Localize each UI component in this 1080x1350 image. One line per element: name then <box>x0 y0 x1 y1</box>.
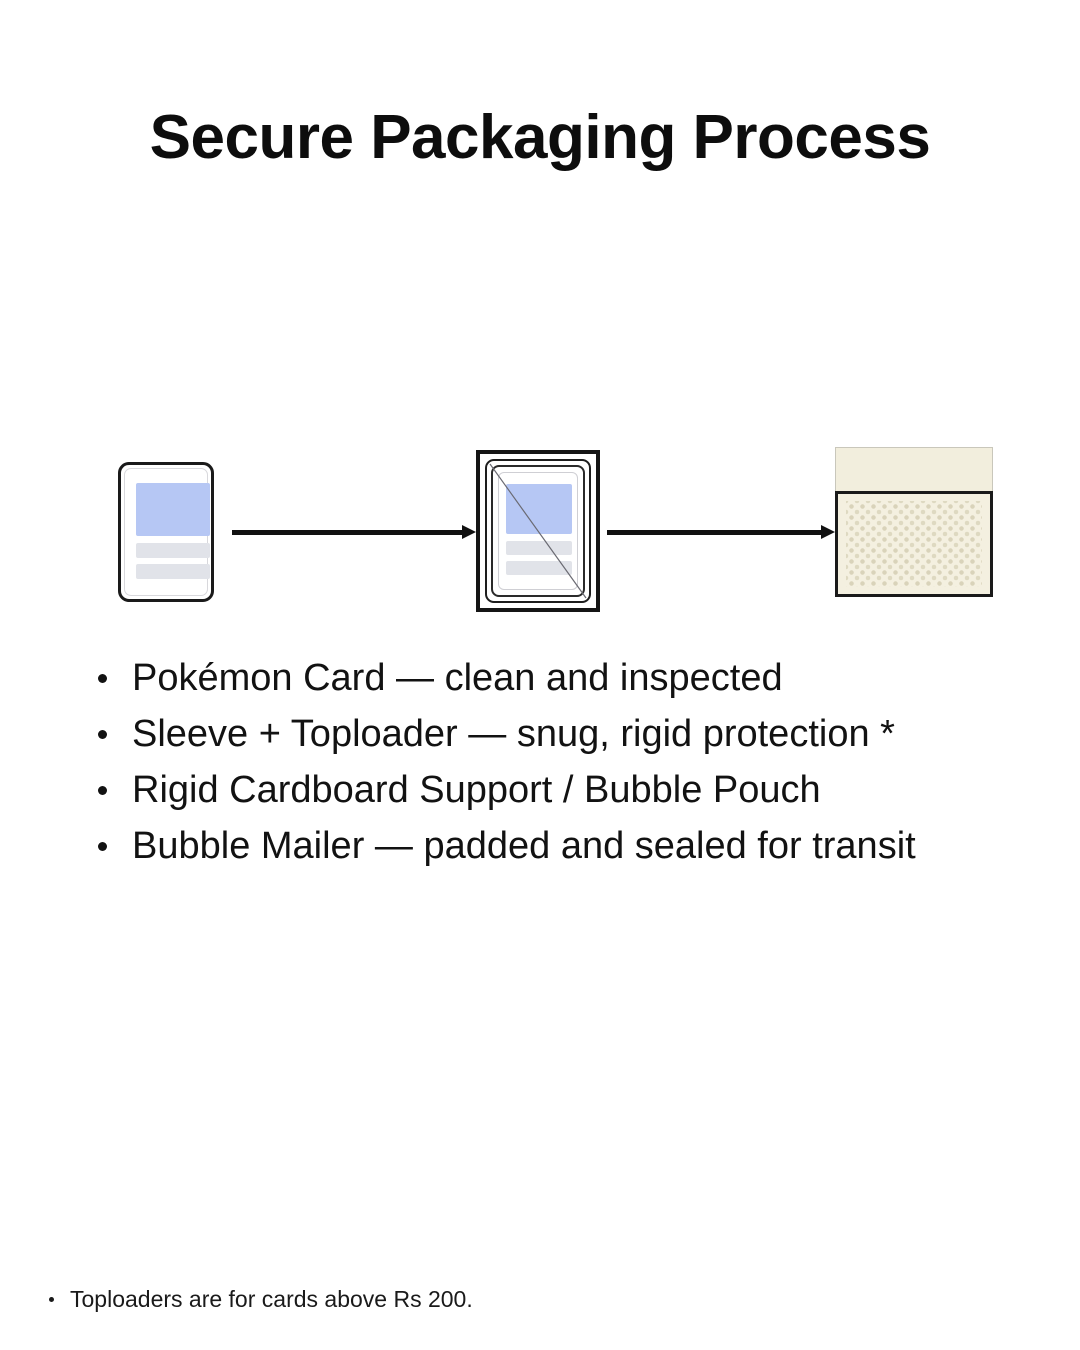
list-item: Pokémon Card — clean and inspected <box>88 650 1048 706</box>
bullet-dot-icon <box>98 730 107 739</box>
list-item: Bubble Mailer — padded and sealed for tr… <box>88 818 1048 874</box>
toploader-card-text-bar-1 <box>506 541 572 555</box>
footnote-label: Toploaders are for cards above Rs 200. <box>70 1286 473 1312</box>
arrow-shaft <box>607 530 823 535</box>
arrow-toploader-to-mailer-icon <box>607 522 835 542</box>
arrow-shaft <box>232 530 464 535</box>
arrow-head <box>462 525 476 539</box>
step-bubble-mailer <box>835 447 993 597</box>
card-artwork-block <box>136 483 210 536</box>
step-sleeve-toploader <box>476 450 600 612</box>
toploader-card-text-bar-2 <box>506 561 572 575</box>
bullet-dot-icon <box>98 842 107 851</box>
toploader-card <box>498 472 578 590</box>
toploader-card-artwork-block <box>506 484 572 534</box>
bullet-dot-icon <box>49 1297 54 1302</box>
list-item-label: Pokémon Card — clean and inspected <box>132 657 783 699</box>
list-item-label: Rigid Cardboard Support / Bubble Pouch <box>132 769 821 811</box>
card-text-bar-2 <box>136 564 210 579</box>
arrow-head <box>821 525 835 539</box>
mailer-bubble-pattern <box>846 501 982 587</box>
card-text-bar-1 <box>136 543 210 558</box>
page-title: Secure Packaging Process <box>0 104 1080 172</box>
list-item-label: Sleeve + Toploader — snug, rigid protect… <box>132 713 895 755</box>
packaging-steps-list: Pokémon Card — clean and inspected Sleev… <box>88 650 1048 874</box>
footnote-item: Toploaders are for cards above Rs 200. <box>40 1283 940 1315</box>
list-item: Sleeve + Toploader — snug, rigid protect… <box>88 706 1048 762</box>
bullet-dot-icon <box>98 674 107 683</box>
mailer-flap <box>835 447 993 492</box>
packaging-flow-diagram <box>0 430 1080 630</box>
list-item-label: Bubble Mailer — padded and sealed for tr… <box>132 825 916 867</box>
arrow-card-to-toploader-icon <box>232 522 476 542</box>
card-inner-border <box>124 468 208 596</box>
bullet-dot-icon <box>98 786 107 795</box>
step-pokemon-card <box>118 462 214 602</box>
footnote-list: Toploaders are for cards above Rs 200. <box>40 1283 940 1315</box>
mailer-body <box>835 491 993 597</box>
list-item: Rigid Cardboard Support / Bubble Pouch <box>88 762 1048 818</box>
